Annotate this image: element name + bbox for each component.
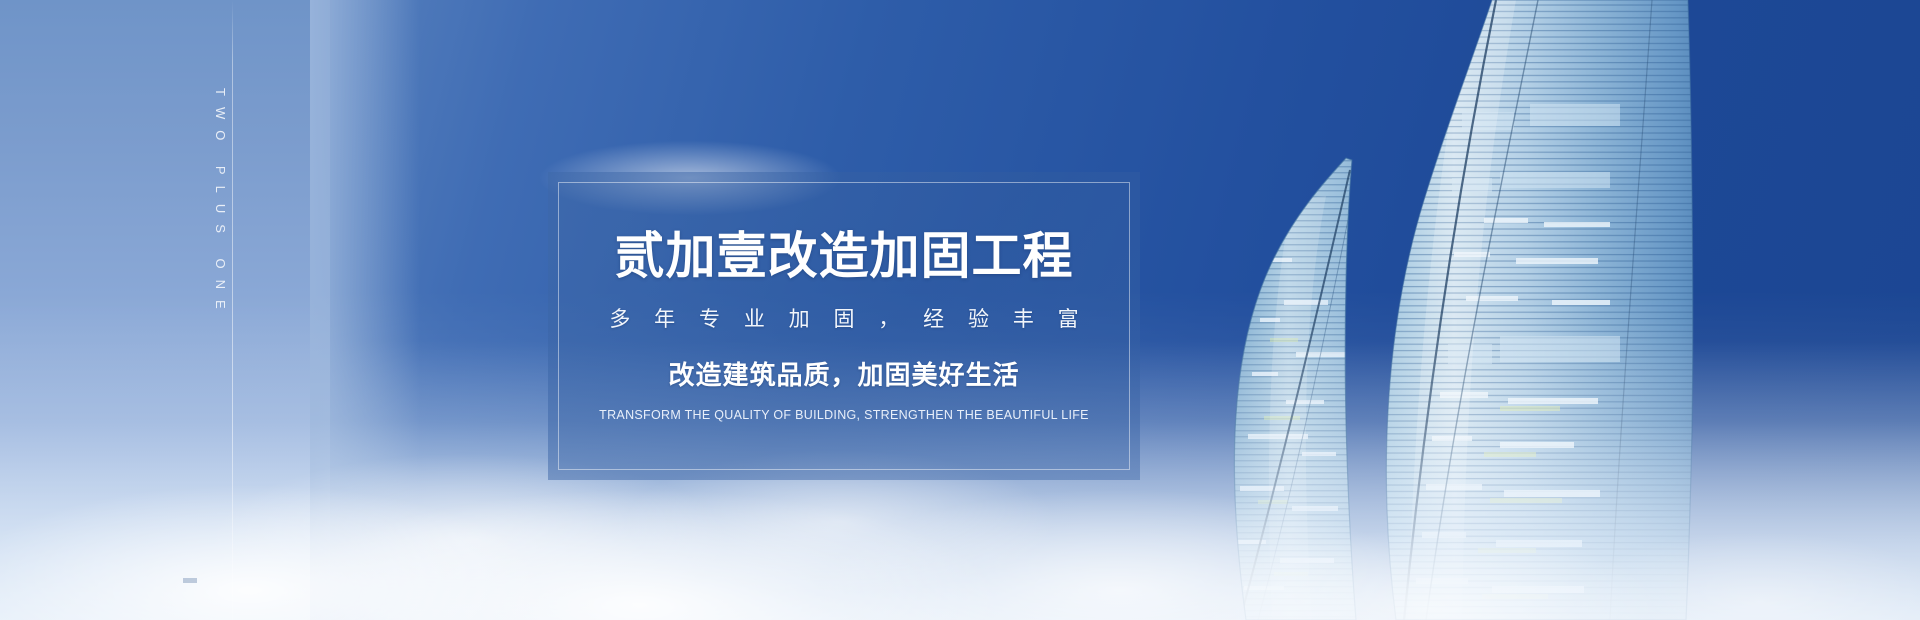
subtitle: 多 年 专 业 加 固 ， 经 验 丰 富 [600, 303, 1087, 333]
rail-mark [183, 578, 197, 583]
vertical-divider-line [232, 0, 233, 620]
page-title: 贰加壹改造加固工程 [615, 230, 1074, 283]
vertical-brand-text: TWO PLUS ONE [213, 88, 228, 320]
headline-panel: 贰加壹改造加固工程 多 年 专 业 加 固 ， 经 验 丰 富 改造建筑品质，加… [548, 172, 1140, 480]
sky-left-gradient [0, 0, 330, 620]
slogan-english: TRANSFORM THE QUALITY OF BUILDING, STREN… [599, 408, 1089, 422]
skyscraper-image [1200, 0, 1920, 620]
banner-stage: TWO PLUS ONE 贰加壹改造加固工程 多 年 专 业 加 固 ， 经 验… [0, 0, 1920, 620]
slogan-chinese: 改造建筑品质，加固美好生活 [668, 355, 1019, 392]
headline-panel-border: 贰加壹改造加固工程 多 年 专 业 加 固 ， 经 验 丰 富 改造建筑品质，加… [558, 182, 1130, 470]
